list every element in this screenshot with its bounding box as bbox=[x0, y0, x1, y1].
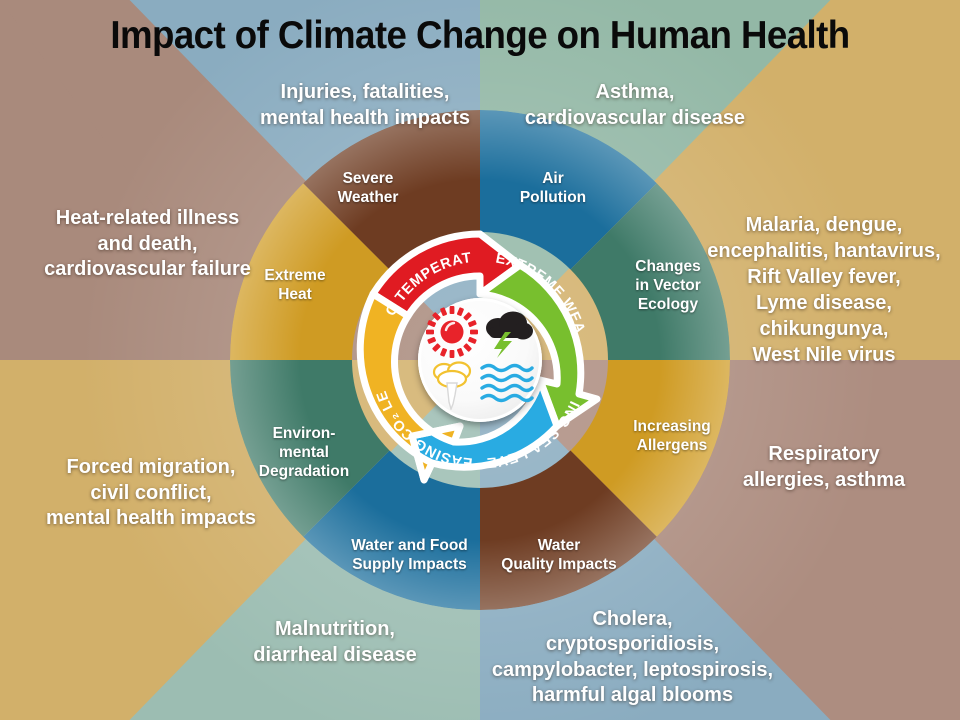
ring-label-severe-weather-line1: Severe bbox=[313, 170, 423, 189]
outer-label-asthma-line2: cardiovascular disease bbox=[470, 106, 800, 132]
ring-label-air-pollution-line2: Pollution bbox=[498, 189, 608, 208]
outer-label-waterborne-line1: Cholera, bbox=[455, 607, 810, 632]
outer-label-vector-line2: encephalitis, hantavirus, bbox=[690, 238, 958, 264]
outer-label-vector-line1: Malaria, dengue, bbox=[690, 212, 958, 238]
outer-label-respiratory-line1: Respiratory bbox=[690, 442, 958, 468]
ring-label-severe-weather-line2: Weather bbox=[313, 189, 423, 208]
ocean-waves-icon bbox=[480, 362, 534, 406]
outer-label-asthma: Asthma, cardiovascular disease bbox=[470, 80, 800, 131]
outer-label-waterborne-line2: cryptosporidiosis, bbox=[455, 632, 810, 657]
outer-label-malnutrition: Malnutrition, diarrheal disease bbox=[170, 617, 500, 668]
smokestack-emissions-icon bbox=[428, 358, 478, 410]
ring-label-air-pollution-line1: Air bbox=[498, 170, 608, 189]
ring-label-water-quality-line2: Quality Impacts bbox=[498, 556, 620, 575]
outer-label-forced-migration: Forced migration, civil conflict, mental… bbox=[6, 455, 296, 532]
sun-icon bbox=[426, 306, 478, 358]
outer-label-heat-related-illness: Heat-related illness and death, cardiova… bbox=[10, 206, 285, 283]
outer-label-heat-line3: cardiovascular failure bbox=[10, 257, 285, 283]
wheel-center-icons bbox=[418, 298, 542, 422]
outer-label-malnutrition-line2: diarrheal disease bbox=[170, 643, 500, 669]
ring-label-extreme-heat-line2: Heat bbox=[240, 286, 350, 305]
ring-label-env-degradation-line1: Environ- bbox=[245, 425, 363, 444]
ring-label-water-and-food-supply-impacts: Water and Food Supply Impacts bbox=[337, 537, 482, 575]
outer-label-vector-line6: West Nile virus bbox=[690, 342, 958, 368]
outer-label-respiratory-line2: allergies, asthma bbox=[690, 468, 958, 494]
ring-label-water-quality-line1: Water bbox=[498, 537, 620, 556]
outer-label-waterborne-line4: harmful algal blooms bbox=[455, 683, 810, 708]
outer-label-heat-line1: Heat-related illness bbox=[10, 206, 285, 232]
outer-label-heat-line2: and death, bbox=[10, 232, 285, 258]
outer-label-asthma-line1: Asthma, bbox=[470, 80, 800, 106]
outer-label-malnutrition-line1: Malnutrition, bbox=[170, 617, 500, 643]
ring-label-allergens-line1: Increasing bbox=[613, 418, 731, 437]
outer-label-vector-line4: Lyme disease, bbox=[690, 290, 958, 316]
outer-label-vector-line5: chikungunya, bbox=[690, 316, 958, 342]
ring-label-severe-weather: Severe Weather bbox=[313, 170, 423, 208]
outer-label-vector-line3: Rift Valley fever, bbox=[690, 264, 958, 290]
ring-label-water-food-line1: Water and Food bbox=[337, 537, 482, 556]
outer-label-waterborne-line3: campylobacter, leptospirosis, bbox=[455, 658, 810, 683]
outer-label-respiratory-allergies: Respiratory allergies, asthma bbox=[690, 442, 958, 493]
storm-cloud-lightning-icon bbox=[480, 308, 534, 358]
ring-label-air-pollution: Air Pollution bbox=[498, 170, 608, 208]
ring-label-water-quality-impacts: Water Quality Impacts bbox=[498, 537, 620, 575]
outer-label-waterborne-diseases: Cholera, cryptosporidiosis, campylobacte… bbox=[455, 607, 810, 709]
outer-label-forced-line1: Forced migration, bbox=[6, 455, 296, 481]
page-title: Impact of Climate Change on Human Health bbox=[29, 14, 931, 58]
outer-label-forced-line2: civil conflict, bbox=[6, 481, 296, 507]
ring-label-water-food-line2: Supply Impacts bbox=[337, 556, 482, 575]
outer-label-forced-line3: mental health impacts bbox=[6, 506, 296, 532]
infographic-canvas: Impact of Climate Change on Human Health… bbox=[0, 0, 960, 720]
outer-label-vector-borne-diseases: Malaria, dengue, encephalitis, hantaviru… bbox=[690, 212, 958, 368]
